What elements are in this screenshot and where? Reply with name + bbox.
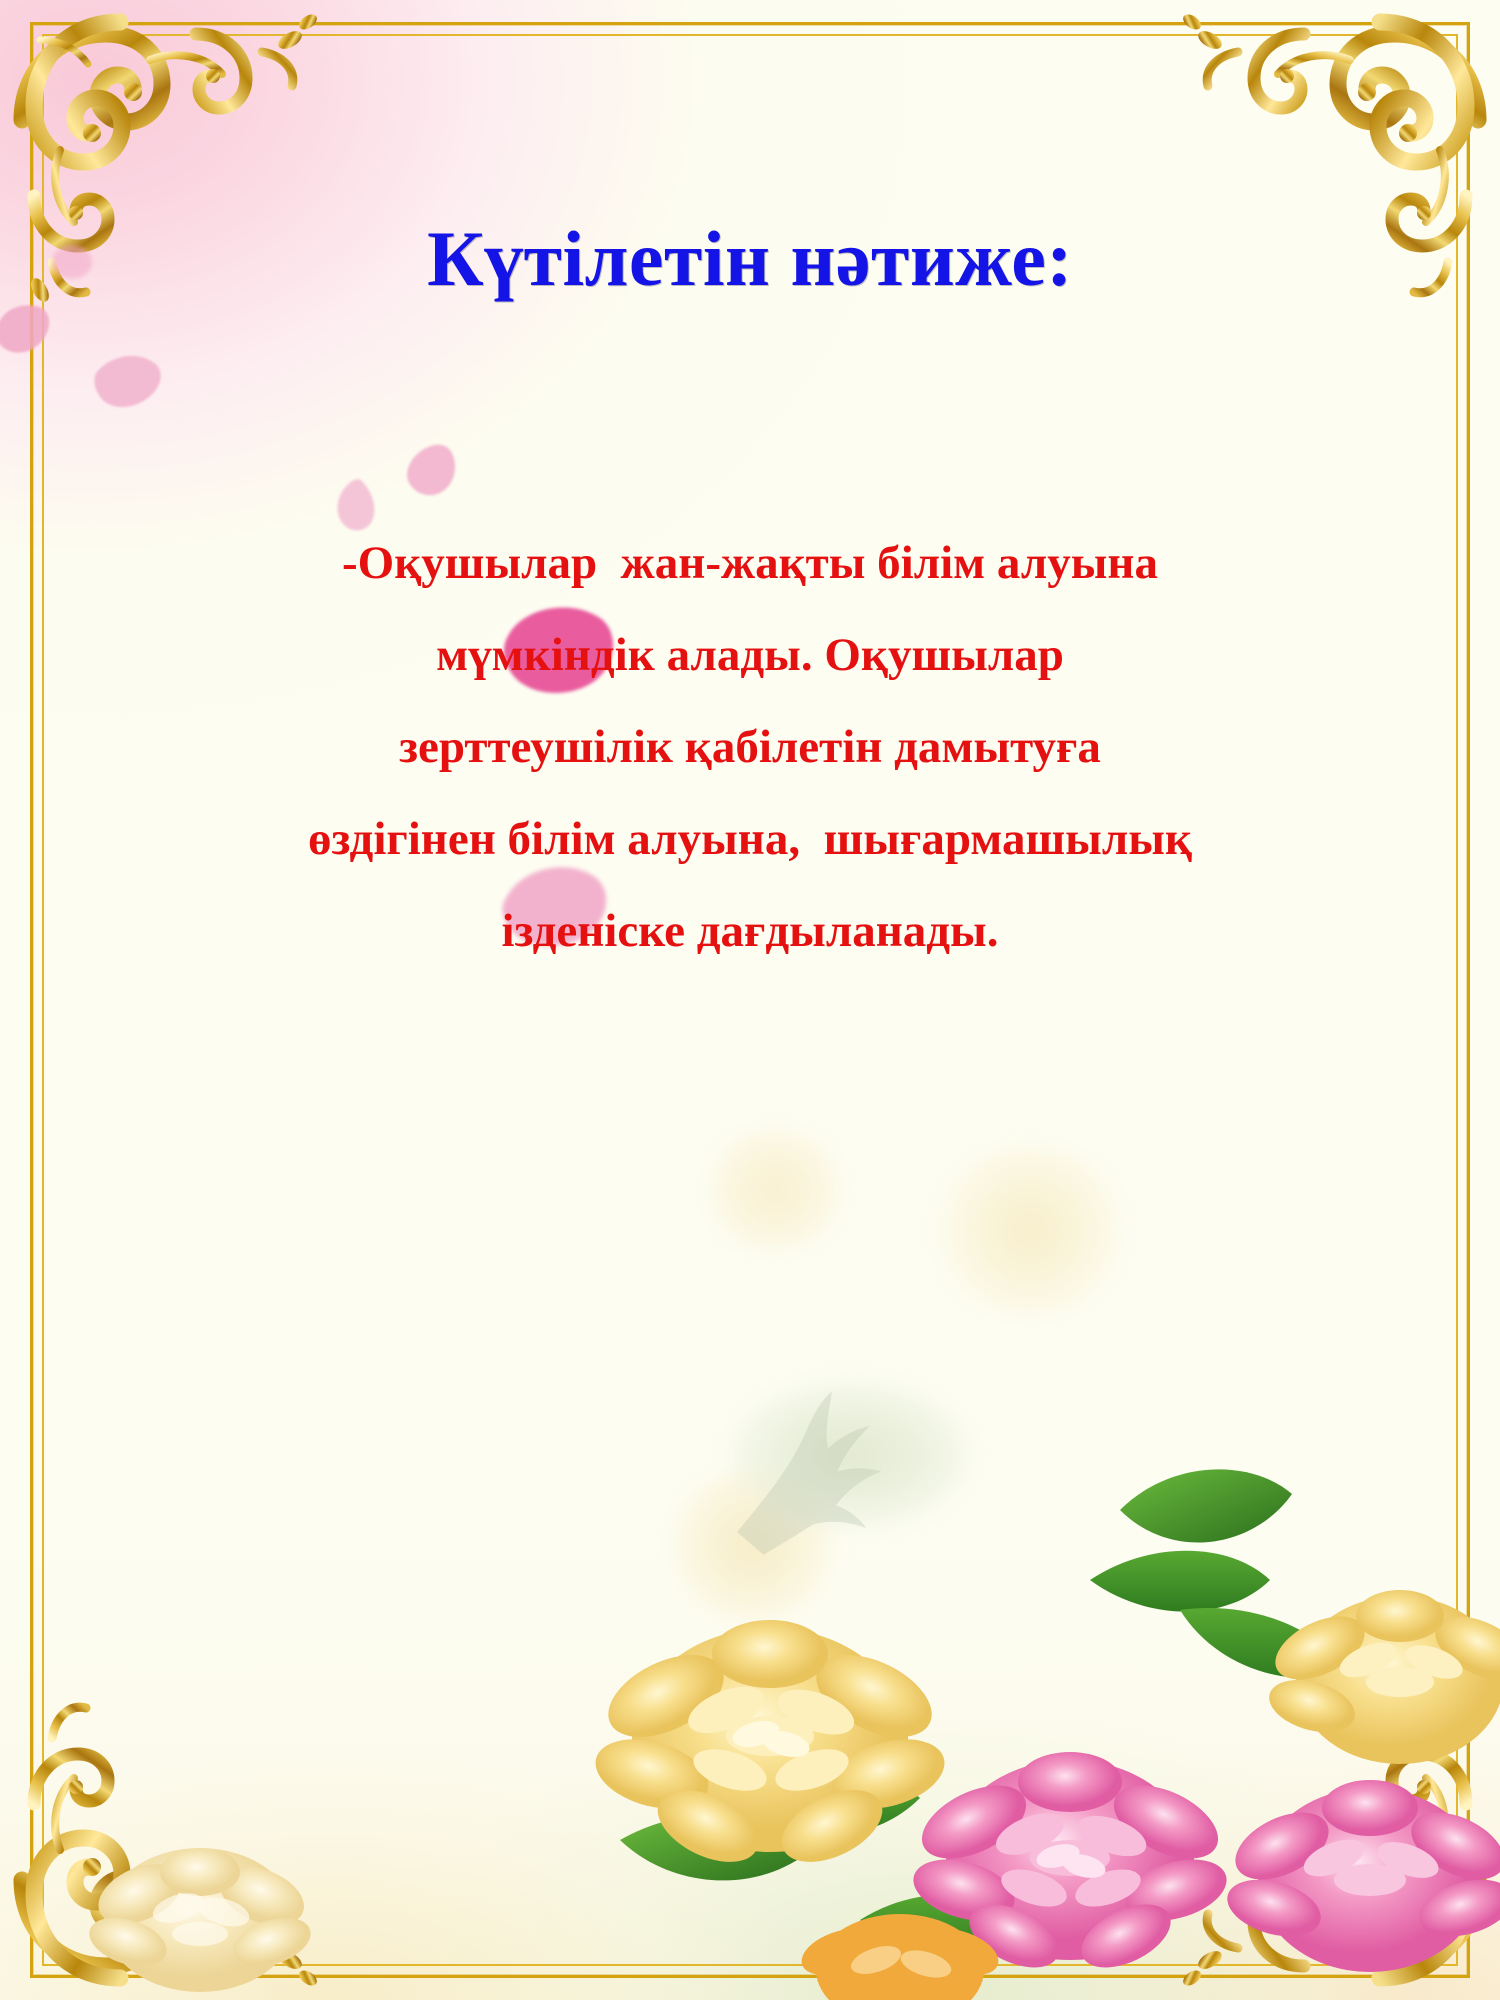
body-line: ізденіске дағдыланады. xyxy=(110,908,1390,955)
rose-petal xyxy=(0,300,58,362)
page-title: Күтілетін нәтиже: xyxy=(0,218,1500,300)
corner-ornament-bottom-right xyxy=(1170,1670,1500,2000)
body-line: -Оқушылар жан-жақты білім алуына xyxy=(110,540,1390,587)
body-text-block: -Оқушылар жан-жақты білім алуына мүмкінд… xyxy=(110,540,1390,955)
rose-petal xyxy=(86,348,170,420)
background-bloom xyxy=(930,1145,1130,1315)
leaf-silhouette-icon xyxy=(718,1380,908,1570)
gold-frame-inner xyxy=(42,34,1458,1966)
corner-ornament-bottom-left xyxy=(0,1670,330,2000)
body-line: мүмкіндік алады. Оқушылар xyxy=(110,632,1390,679)
background-bloom xyxy=(700,1130,850,1250)
body-line: өздігінен білім алуына, шығармашылық xyxy=(110,816,1390,863)
rose-petal xyxy=(400,440,462,502)
slide-canvas: Күтілетін нәтиже: -Оқушылар жан-жақты бі… xyxy=(0,0,1500,2000)
body-line: зерттеушілік қабілетін дамытуға xyxy=(110,724,1390,771)
rose-petal xyxy=(330,470,388,540)
gold-frame-outer xyxy=(30,22,1470,1978)
